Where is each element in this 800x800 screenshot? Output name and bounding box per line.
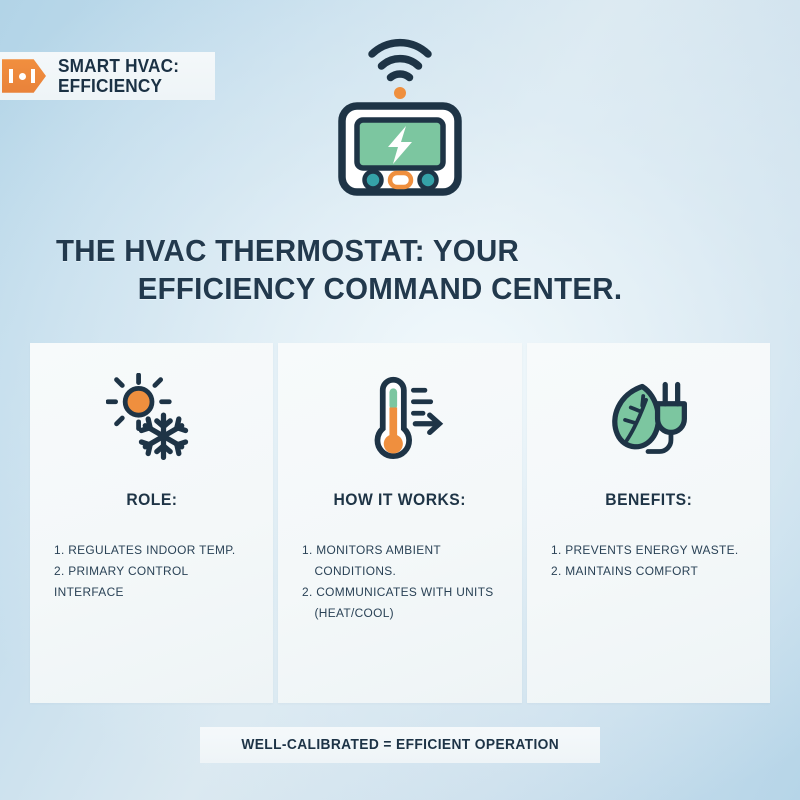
- header-badge-text: SMART HVAC: EFFICIENCY: [58, 56, 179, 96]
- list-item-text: 2. PRIMARY CONTROL INTERFACE: [54, 564, 188, 599]
- card-list-role: 1. REGULATES INDOOR TEMP. 2. PRIMARY CON…: [48, 540, 255, 603]
- smart-thermostat-icon: [320, 28, 480, 196]
- list-item: 1. REGULATES INDOOR TEMP.: [54, 540, 247, 561]
- page-title-line1: THE HVAC THERMOSTAT: YOUR: [56, 232, 664, 270]
- wifi-dot: [394, 87, 406, 99]
- card-benefits: BENEFITS: 1. PREVENTS ENERGY WASTE. 2. M…: [527, 343, 770, 703]
- gauge-mark-icon: [2, 56, 46, 96]
- card-role: ROLE: 1. REGULATES INDOOR TEMP. 2. PRIMA…: [30, 343, 273, 703]
- list-item-text: 1. PREVENTS ENERGY WASTE.: [551, 543, 739, 557]
- card-row: ROLE: 1. REGULATES INDOOR TEMP. 2. PRIMA…: [30, 343, 770, 703]
- card-how-it-works: HOW IT WORKS: 1. MONITORS AMBIENT CONDIT…: [278, 343, 521, 703]
- list-item: 2. MAINTAINS COMFORT: [551, 561, 744, 582]
- card-list-benefits: 1. PREVENTS ENERGY WASTE. 2. MAINTAINS C…: [545, 540, 752, 582]
- footer-banner-text: WELL-CALIBRATED = EFFICIENT OPERATION: [241, 737, 559, 753]
- list-item-subtext: (HEAT/COOL): [302, 603, 495, 624]
- teal-button-right: [420, 172, 437, 189]
- list-item-subtext: CONDITIONS.: [302, 561, 495, 582]
- list-item: 1. MONITORS AMBIENT CONDITIONS.: [302, 540, 495, 582]
- list-item-text: 1. MONITORS AMBIENT: [302, 543, 441, 557]
- list-item-text: 2. COMMUNICATES WITH UNITS: [302, 585, 494, 599]
- page-title-line2: EFFICIENCY COMMAND CENTER.: [56, 270, 664, 308]
- list-item-text: 2. MAINTAINS COMFORT: [551, 564, 698, 578]
- list-item: 1. PREVENTS ENERGY WASTE.: [551, 540, 744, 561]
- sun-snowflake-icon: [106, 371, 198, 467]
- card-title-role: ROLE:: [126, 491, 177, 510]
- list-item-text: 1. REGULATES INDOOR TEMP.: [54, 543, 236, 557]
- teal-button-left: [365, 172, 382, 189]
- infographic-canvas: SMART HVAC: EFFICIENCY THE HVAC THERMOST…: [0, 0, 800, 800]
- card-title-benefits: BENEFITS:: [605, 491, 692, 510]
- footer-banner: WELL-CALIBRATED = EFFICIENT OPERATION: [200, 727, 600, 763]
- page-title: THE HVAC THERMOSTAT: YOUR EFFICIENCY COM…: [56, 232, 696, 308]
- orange-button-center: [390, 173, 411, 187]
- list-item: 2. COMMUNICATES WITH UNITS (HEAT/COOL): [302, 582, 495, 624]
- card-list-how-it-works: 1. MONITORS AMBIENT CONDITIONS. 2. COMMU…: [296, 540, 503, 624]
- header-badge-line2: EFFICIENCY: [58, 76, 179, 96]
- wifi-signal-icon: [372, 43, 428, 78]
- header-badge-line1: SMART HVAC:: [58, 56, 179, 76]
- leaf-plug-icon: [598, 371, 698, 467]
- card-title-how-it-works: HOW IT WORKS:: [334, 491, 466, 510]
- header-badge: SMART HVAC: EFFICIENCY: [0, 52, 215, 100]
- thermometer-arrow-icon: [352, 371, 448, 467]
- list-item: 2. PRIMARY CONTROL INTERFACE: [54, 561, 247, 603]
